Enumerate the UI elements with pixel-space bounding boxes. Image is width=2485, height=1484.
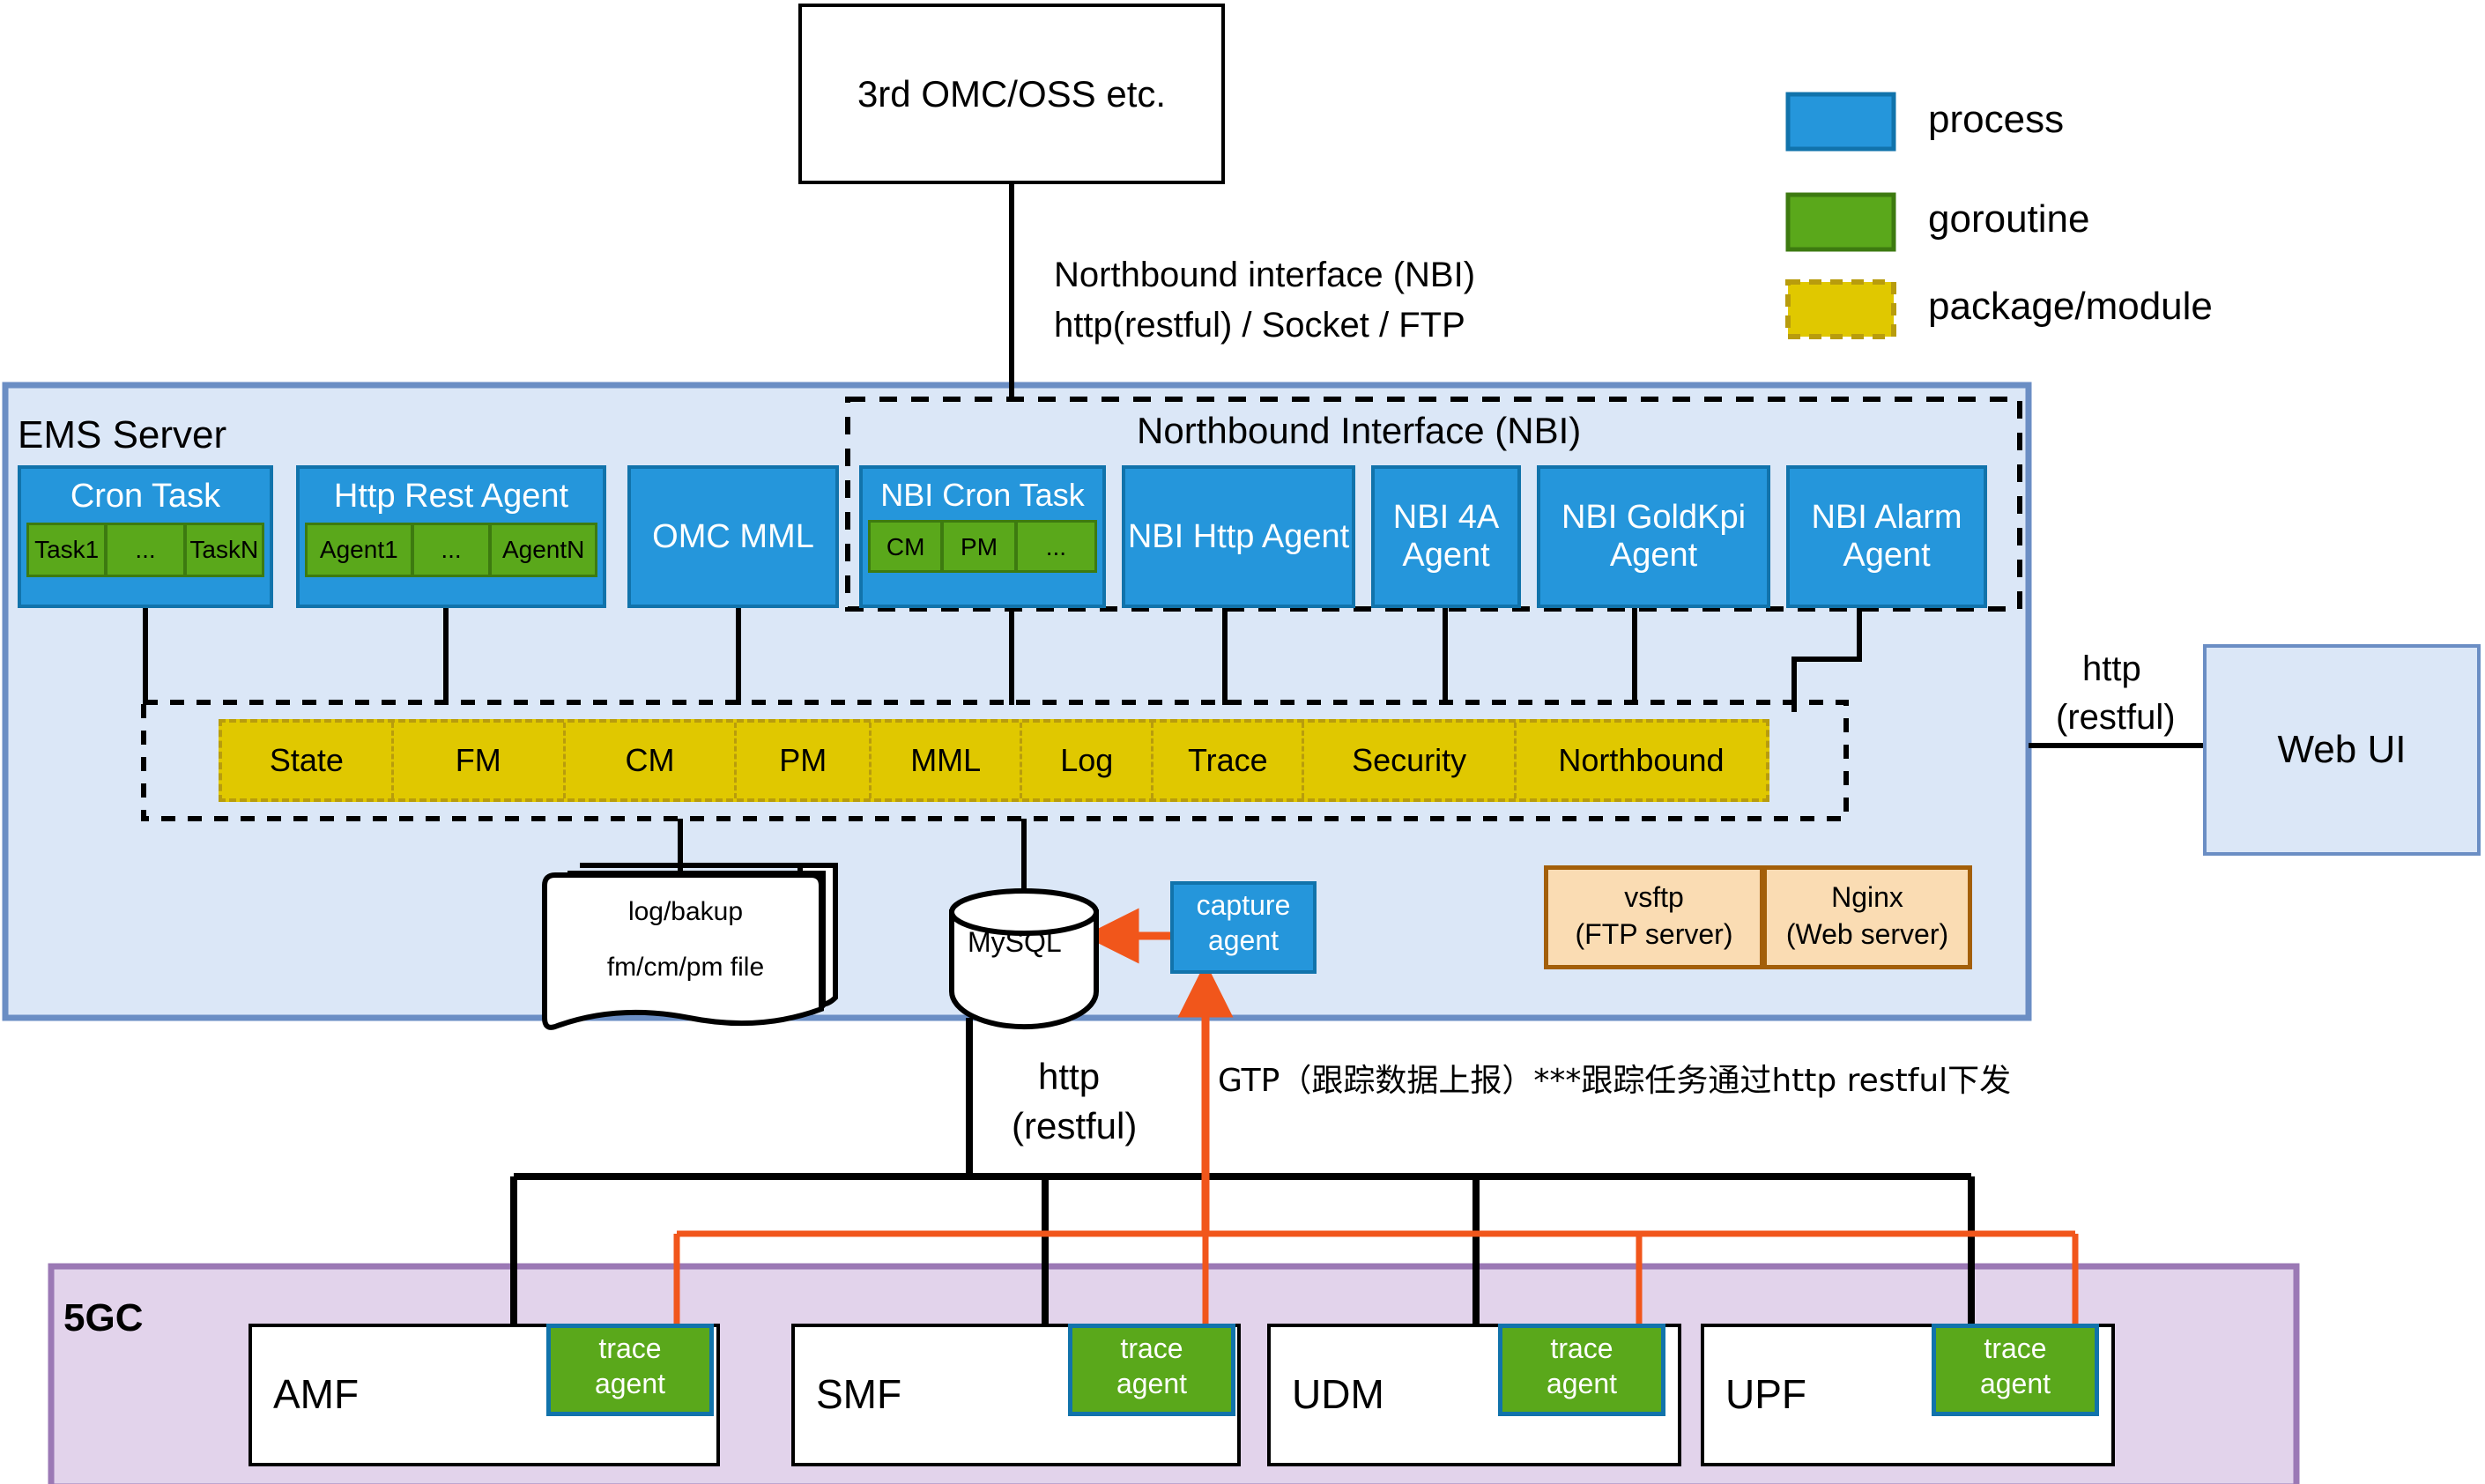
nbi-edge-label-line2: http(restful) / Socket / FTP bbox=[1054, 304, 1465, 346]
goroutine-taskn[interactable]: TaskN bbox=[185, 523, 264, 577]
trace-agent-smf[interactable]: trace agent bbox=[1068, 1324, 1235, 1416]
file-store-line1: log/bakup bbox=[562, 894, 809, 931]
process-nbi-goldkpi-agent[interactable]: NBI GoldKpi Agent bbox=[1537, 465, 1770, 608]
web-ui-label: Web UI bbox=[2278, 728, 2407, 771]
module-security-label: Security bbox=[1352, 743, 1466, 778]
process-nbi-cron-task[interactable]: NBI Cron Task CM PM ... bbox=[859, 465, 1106, 608]
core-5gc-title: 5GC bbox=[63, 1295, 143, 1342]
module-pm[interactable]: PM bbox=[737, 723, 872, 798]
legend-label-process: process bbox=[1928, 97, 2064, 144]
module-state-label: State bbox=[270, 743, 344, 778]
trace-agent-smf-line2: agent bbox=[1072, 1369, 1231, 1400]
trace-agent-udm-line1: trace bbox=[1502, 1333, 1661, 1365]
goroutine-nbi-ellipsis-label: ... bbox=[1046, 533, 1066, 560]
http-edge-label-line1: http bbox=[1038, 1055, 1100, 1099]
trace-agent-udm[interactable]: trace agent bbox=[1498, 1324, 1665, 1416]
module-trace-label: Trace bbox=[1188, 743, 1268, 778]
module-fm-label: FM bbox=[456, 743, 501, 778]
file-store-line2: fm/cm/pm file bbox=[562, 950, 809, 986]
server-nginx[interactable]: Nginx (Web server) bbox=[1762, 865, 1972, 969]
module-fm[interactable]: FM bbox=[394, 723, 566, 798]
goroutine-task1-label: Task1 bbox=[34, 536, 99, 563]
process-http-rest-agent-label: Http Rest Agent bbox=[300, 469, 603, 516]
mysql-label: MySQL bbox=[968, 925, 1062, 959]
goroutine-task-ellipsis: ... bbox=[106, 523, 184, 577]
module-security[interactable]: Security bbox=[1304, 723, 1516, 798]
goroutine-agent1[interactable]: Agent1 bbox=[305, 523, 412, 577]
process-nbi-http-agent[interactable]: NBI Http Agent bbox=[1122, 465, 1355, 608]
trace-agent-amf-line1: trace bbox=[551, 1333, 709, 1365]
capture-agent-line2: agent bbox=[1174, 925, 1313, 957]
third-party-omc-oss-label: 3rd OMC/OSS etc. bbox=[857, 73, 1166, 115]
process-nbi-http-agent-label: NBI Http Agent bbox=[1128, 518, 1349, 556]
process-nbi-4a-agent[interactable]: NBI 4A Agent bbox=[1371, 465, 1521, 608]
server-nginx-line2: (Web server) bbox=[1767, 919, 1968, 951]
http-edge-label-line2: (restful) bbox=[1012, 1104, 1137, 1148]
process-nbi-alarm-agent[interactable]: NBI Alarm Agent bbox=[1786, 465, 1987, 608]
module-pm-label: PM bbox=[779, 743, 827, 778]
module-mml[interactable]: MML bbox=[872, 723, 1022, 798]
process-nbi-alarm-agent-label: NBI Alarm Agent bbox=[1790, 499, 1984, 574]
architecture-diagram: 3rd OMC/OSS etc. Northbound interface (N… bbox=[0, 0, 2485, 1484]
trace-agent-amf-line2: agent bbox=[551, 1369, 709, 1400]
nbi-group-title: Northbound Interface (NBI) bbox=[1137, 409, 1581, 453]
legend-swatch-module bbox=[1788, 282, 1894, 337]
legend-swatch-goroutine bbox=[1788, 195, 1894, 249]
process-nbi-goldkpi-agent-label: NBI GoldKpi Agent bbox=[1540, 499, 1767, 574]
module-northbound[interactable]: Northbound bbox=[1517, 723, 1766, 798]
server-vsftp-line2: (FTP server) bbox=[1548, 919, 1760, 951]
goroutine-task-ellipsis-label: ... bbox=[135, 536, 155, 563]
module-bar: State FM CM PM MML Log Trace Security No… bbox=[219, 719, 1769, 802]
goroutine-nbi-ellipsis: ... bbox=[1016, 520, 1097, 573]
process-nbi-4a-agent-label: NBI 4A Agent bbox=[1375, 499, 1517, 574]
goroutine-agent1-label: Agent1 bbox=[320, 536, 398, 563]
nf-udm-label: UDM bbox=[1292, 1372, 1384, 1418]
module-cm-label: CM bbox=[625, 743, 674, 778]
file-store-labels: log/bakup fm/cm/pm file bbox=[562, 894, 809, 985]
gtp-note-label: GTP（跟踪数据上报）***跟踪任务通过http restful下发 bbox=[1218, 1062, 2011, 1100]
trace-agent-upf[interactable]: trace agent bbox=[1932, 1324, 2099, 1416]
process-omc-mml[interactable]: OMC MML bbox=[627, 465, 839, 608]
process-nbi-cron-task-label: NBI Cron Task bbox=[863, 469, 1102, 513]
process-omc-mml-label: OMC MML bbox=[652, 518, 814, 556]
module-log[interactable]: Log bbox=[1022, 723, 1153, 798]
web-ui-box[interactable]: Web UI bbox=[2203, 644, 2481, 856]
process-http-rest-agent[interactable]: Http Rest Agent Agent1 ... AgentN bbox=[296, 465, 606, 608]
trace-agent-udm-line2: agent bbox=[1502, 1369, 1661, 1400]
module-northbound-label: Northbound bbox=[1558, 743, 1724, 778]
goroutine-agentn[interactable]: AgentN bbox=[490, 523, 597, 577]
module-state[interactable]: State bbox=[222, 723, 394, 798]
module-cm[interactable]: CM bbox=[566, 723, 738, 798]
process-cron-task-label: Cron Task bbox=[21, 469, 270, 516]
capture-agent-line1: capture bbox=[1174, 890, 1313, 922]
ems-server-title: EMS Server bbox=[18, 412, 226, 459]
module-trace[interactable]: Trace bbox=[1153, 723, 1304, 798]
goroutine-nbi-pm[interactable]: PM bbox=[942, 520, 1015, 573]
goroutine-agent-ellipsis: ... bbox=[412, 523, 491, 577]
nf-smf-label: SMF bbox=[816, 1372, 901, 1418]
server-vsftp-line1: vsftp bbox=[1548, 882, 1760, 914]
third-party-omc-oss-box[interactable]: 3rd OMC/OSS etc. bbox=[798, 4, 1225, 184]
webui-edge-label-line2: (restful) bbox=[2056, 696, 2176, 738]
server-nginx-line1: Nginx bbox=[1767, 882, 1968, 914]
trace-agent-upf-line2: agent bbox=[1936, 1369, 2095, 1400]
server-vsftp[interactable]: vsftp (FTP server) bbox=[1544, 865, 1764, 969]
legend-swatch-process bbox=[1788, 94, 1894, 149]
goroutine-taskn-label: TaskN bbox=[189, 536, 258, 563]
module-log-label: Log bbox=[1060, 743, 1113, 778]
process-cron-task[interactable]: Cron Task Task1 ... TaskN bbox=[18, 465, 273, 608]
trace-agent-smf-line1: trace bbox=[1072, 1333, 1231, 1365]
legend-label-goroutine: goroutine bbox=[1928, 197, 2089, 243]
goroutine-task1[interactable]: Task1 bbox=[26, 523, 106, 577]
nf-amf-label: AMF bbox=[273, 1372, 359, 1418]
module-mml-label: MML bbox=[910, 743, 981, 778]
trace-agent-upf-line1: trace bbox=[1936, 1333, 2095, 1365]
goroutine-agent-ellipsis-label: ... bbox=[441, 536, 461, 563]
nbi-edge-label-line1: Northbound interface (NBI) bbox=[1054, 254, 1475, 296]
legend-label-package-module: package/module bbox=[1928, 284, 2213, 330]
goroutine-nbi-cm-label: CM bbox=[886, 533, 925, 560]
goroutine-agentn-label: AgentN bbox=[502, 536, 584, 563]
nf-upf-label: UPF bbox=[1725, 1372, 1806, 1418]
trace-agent-amf[interactable]: trace agent bbox=[546, 1324, 714, 1416]
webui-edge-label-line1: http bbox=[2082, 648, 2141, 690]
process-capture-agent[interactable]: capture agent bbox=[1170, 881, 1317, 974]
goroutine-nbi-cm[interactable]: CM bbox=[868, 520, 942, 573]
goroutine-nbi-pm-label: PM bbox=[961, 533, 998, 560]
